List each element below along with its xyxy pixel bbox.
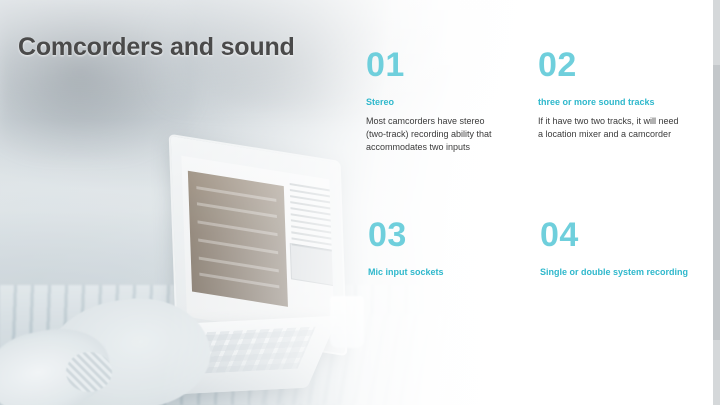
slide: Comcorders and sound 01 Stereo Most camc…: [0, 0, 720, 405]
list-item-04: 04 Single or double system recording: [540, 218, 690, 278]
item-number: 03: [368, 218, 518, 252]
right-edge-strip-dark: [713, 65, 720, 340]
item-subheading: three or more sound tracks: [538, 96, 686, 108]
item-number: 01: [366, 48, 506, 82]
item-subheading: Mic input sockets: [368, 266, 518, 278]
list-item-01: 01 Stereo Most camcorders have stereo (t…: [366, 48, 506, 154]
item-subheading: Single or double system recording: [540, 266, 690, 278]
item-body: Most camcorders have stereo (two-track) …: [366, 115, 506, 154]
item-subheading: Stereo: [366, 96, 506, 108]
page-title: Comcorders and sound: [18, 33, 295, 62]
item-body: If it have two two tracks, it will need …: [538, 115, 686, 141]
list-item-02: 02 three or more sound tracks If it have…: [538, 48, 686, 141]
item-number: 02: [538, 48, 686, 82]
list-item-03: 03 Mic input sockets: [368, 218, 518, 278]
item-number: 04: [540, 218, 690, 252]
